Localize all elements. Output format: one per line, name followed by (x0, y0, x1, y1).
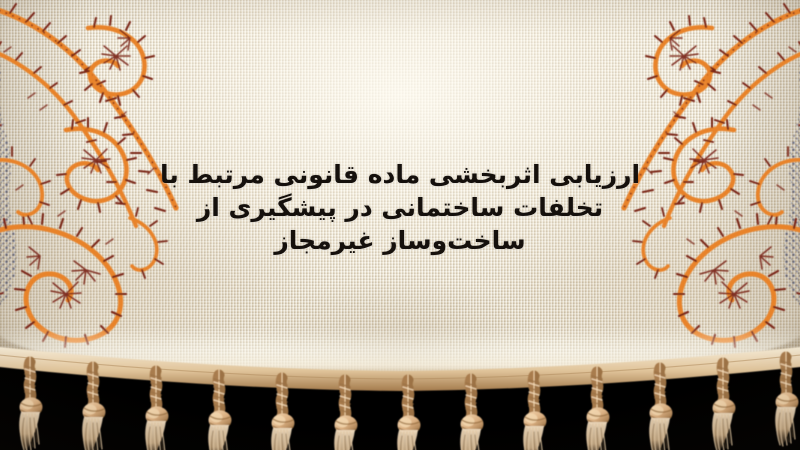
title-card-image: ارزیابی اثربخشی ماده قانونی مرتبط با تخل… (0, 0, 800, 450)
title-line-1: ارزیابی اثربخشی ماده قانونی مرتبط با (0, 158, 800, 191)
page-title: ارزیابی اثربخشی ماده قانونی مرتبط با تخل… (0, 158, 800, 257)
tassel-fringe (0, 340, 800, 450)
title-line-2: تخلفات ساختمانی در پیشگیری از (0, 191, 800, 224)
title-line-3: ساخت‌وساز غیرمجاز (0, 224, 800, 257)
